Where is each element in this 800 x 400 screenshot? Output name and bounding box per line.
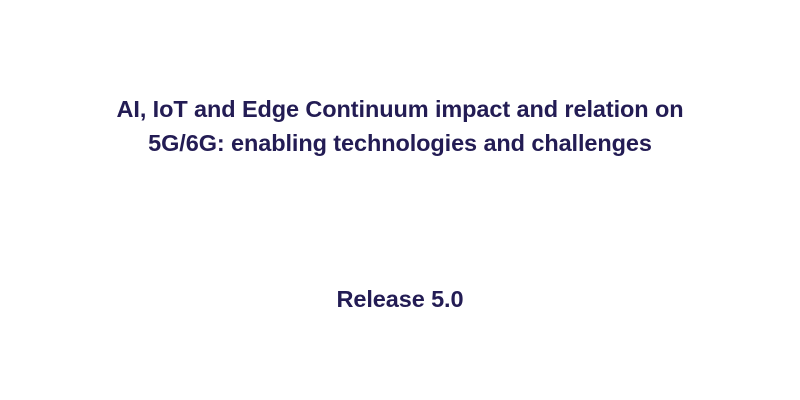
slide-subtitle: Release 5.0 (0, 282, 800, 316)
release-label: Release 5.0 (0, 282, 800, 316)
slide-canvas: AI, IoT and Edge Continuum impact and re… (0, 0, 800, 400)
slide-title-line-2: 5G/6G: enabling technologies and challen… (0, 126, 800, 160)
slide-title-line-1: AI, IoT and Edge Continuum impact and re… (0, 92, 800, 126)
slide-title: AI, IoT and Edge Continuum impact and re… (0, 92, 800, 160)
